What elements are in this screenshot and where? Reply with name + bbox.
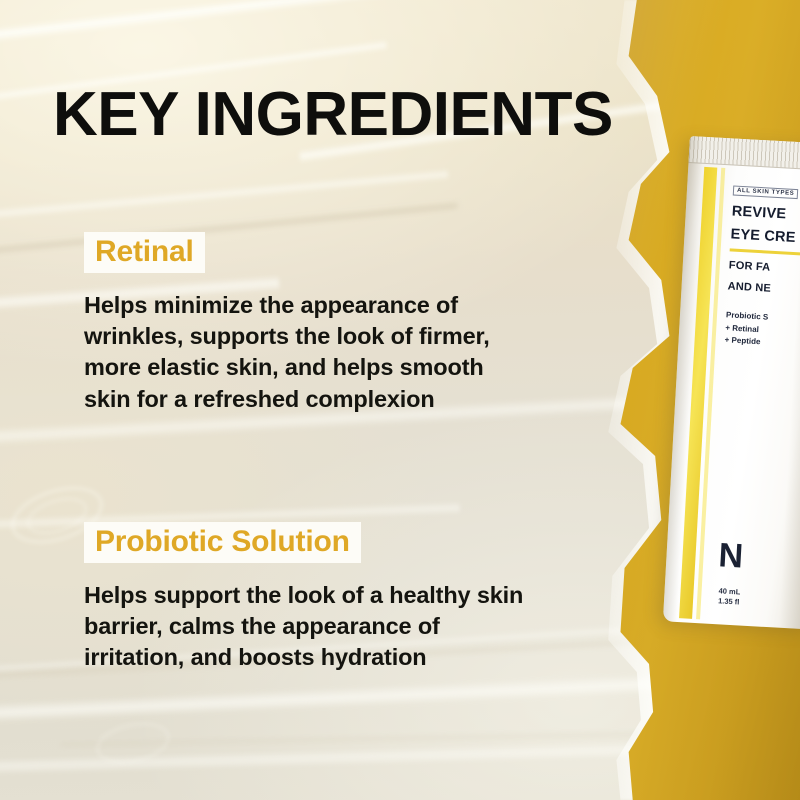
ingredient-block-retinal: Retinal Helps minimize the appearance of… [84,232,524,415]
product-ingredient-line-3: + Peptide [724,334,800,352]
ingredient-description: Helps support the look of a healthy skin… [84,580,524,674]
product-name-line-1: REVIVE [731,203,800,225]
product-size: 40 mL 1.35 fl [718,586,741,607]
product-subtitle-line-1: FOR FA [728,259,800,278]
product-label: ALL SKIN TYPES REVIVE EYE CRE FOR FA AND… [724,179,800,353]
product-subtitle-line-2: AND NE [727,281,800,300]
ingredient-name: Probiotic Solution [84,522,361,563]
ingredient-block-probiotic-solution: Probiotic Solution Helps support the loo… [84,522,524,674]
brand-logo-mark: N [718,538,743,573]
skin-type-badge: ALL SKIN TYPES [733,185,799,199]
page-title: KEY INGREDIENTS [53,84,613,146]
ingredient-description: Helps minimize the appearance of wrinkle… [84,290,524,415]
product-name-line-2: EYE CRE [730,227,800,249]
product-size-imperial: 1.35 fl [718,596,740,607]
product-ingredients-graphic: ALL SKIN TYPES REVIVE EYE CRE FOR FA AND… [0,0,800,800]
ingredient-name: Retinal [84,232,205,273]
label-divider-rule [730,249,800,256]
